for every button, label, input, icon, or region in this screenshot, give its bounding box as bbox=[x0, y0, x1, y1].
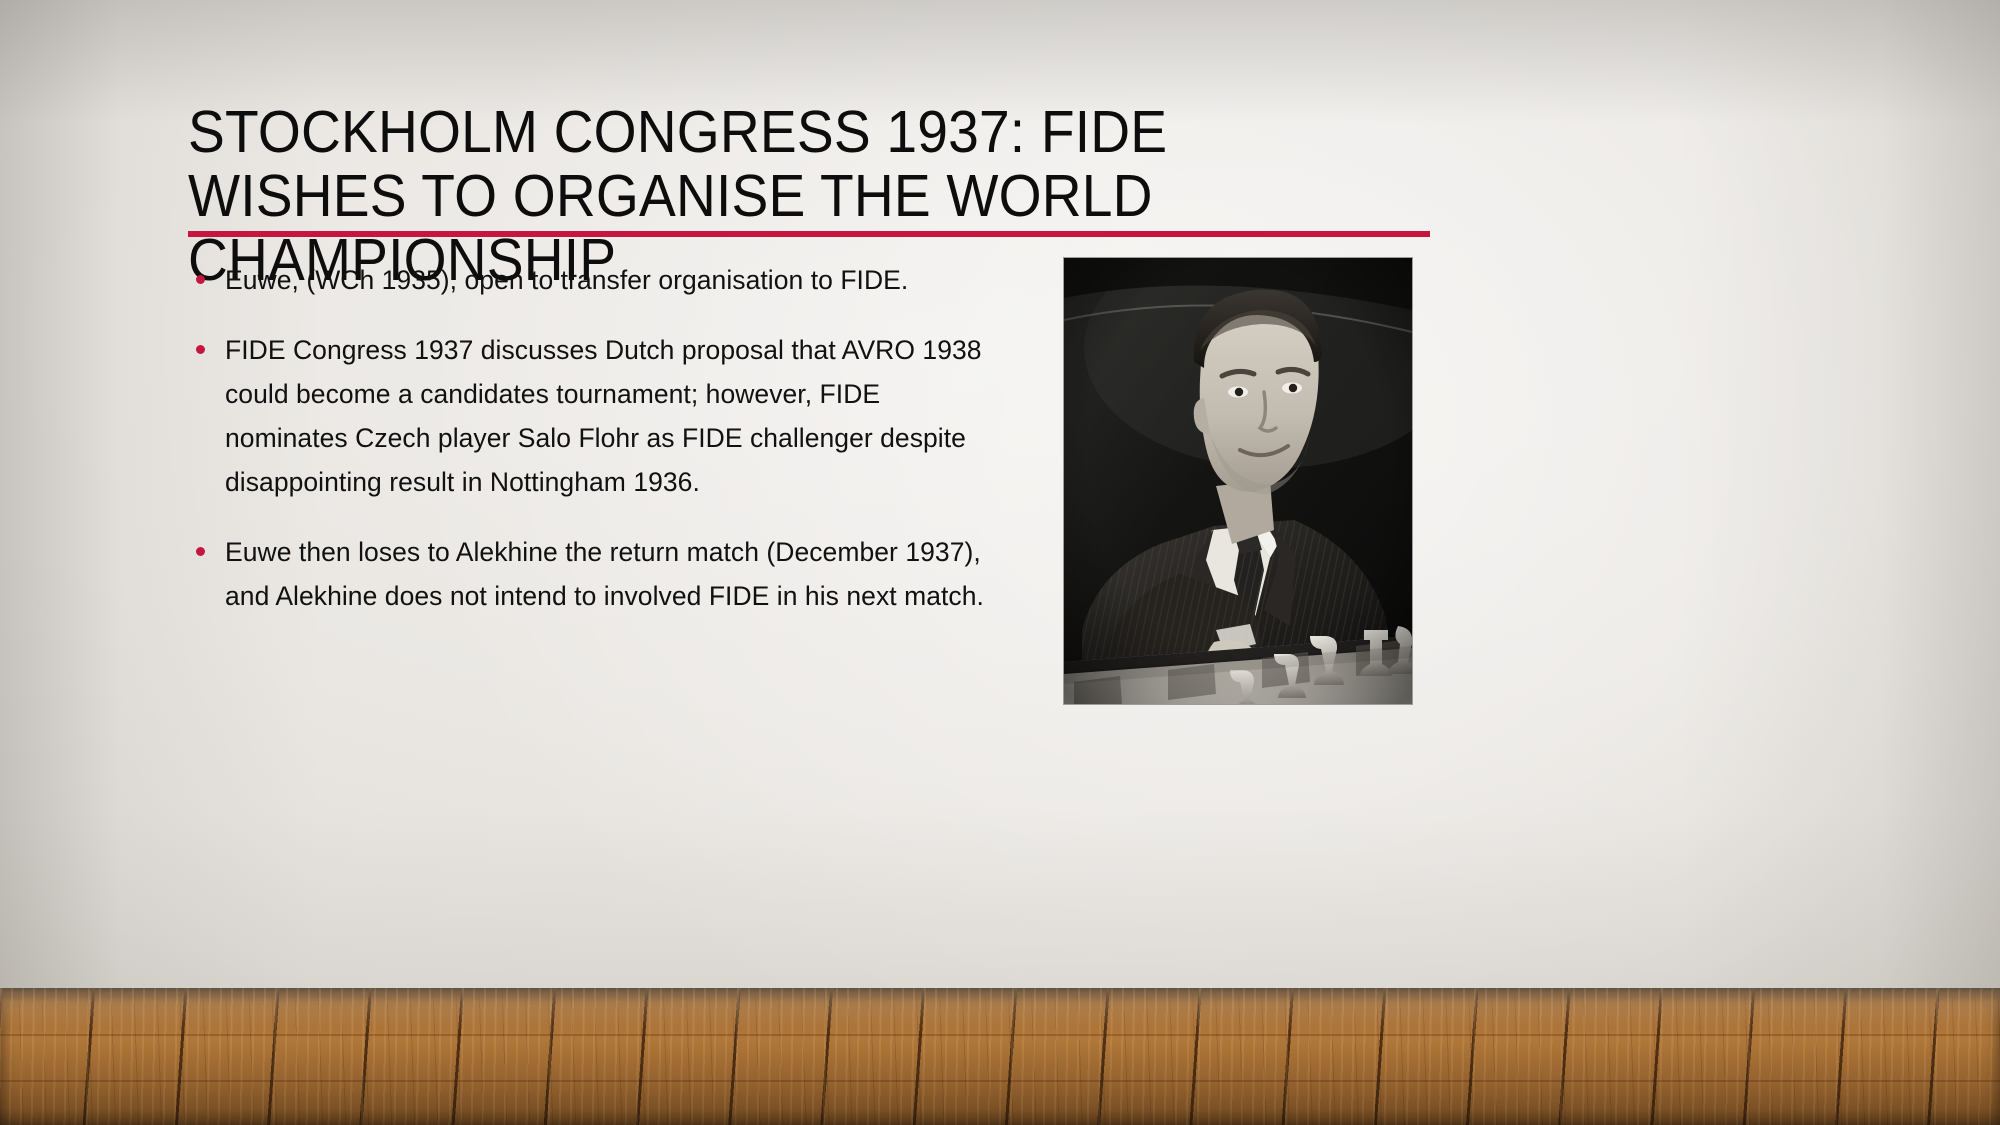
list-item-text: Euwe then loses to Alekhine the return m… bbox=[225, 530, 1010, 618]
bullet-dot-icon bbox=[196, 345, 205, 354]
presentation-slide: STOCKHOLM CONGRESS 1937: FIDE WISHES TO … bbox=[0, 0, 2000, 1125]
list-item: Euwe then loses to Alekhine the return m… bbox=[190, 530, 1010, 618]
list-item: Euwe, (WCh 1935), open to transfer organ… bbox=[190, 258, 1010, 302]
bullet-list: Euwe, (WCh 1935), open to transfer organ… bbox=[190, 258, 1010, 644]
chess-player-photo bbox=[1064, 258, 1412, 704]
bullet-dot-icon bbox=[196, 547, 205, 556]
wooden-floor bbox=[0, 988, 2000, 1125]
list-item-text: Euwe, (WCh 1935), open to transfer organ… bbox=[225, 258, 908, 302]
floor-shine bbox=[0, 988, 2000, 1125]
title-underline-rule bbox=[188, 231, 1430, 237]
list-item-text: FIDE Congress 1937 discusses Dutch propo… bbox=[225, 328, 1010, 504]
list-item: FIDE Congress 1937 discusses Dutch propo… bbox=[190, 328, 1010, 504]
bullet-dot-icon bbox=[196, 275, 205, 284]
